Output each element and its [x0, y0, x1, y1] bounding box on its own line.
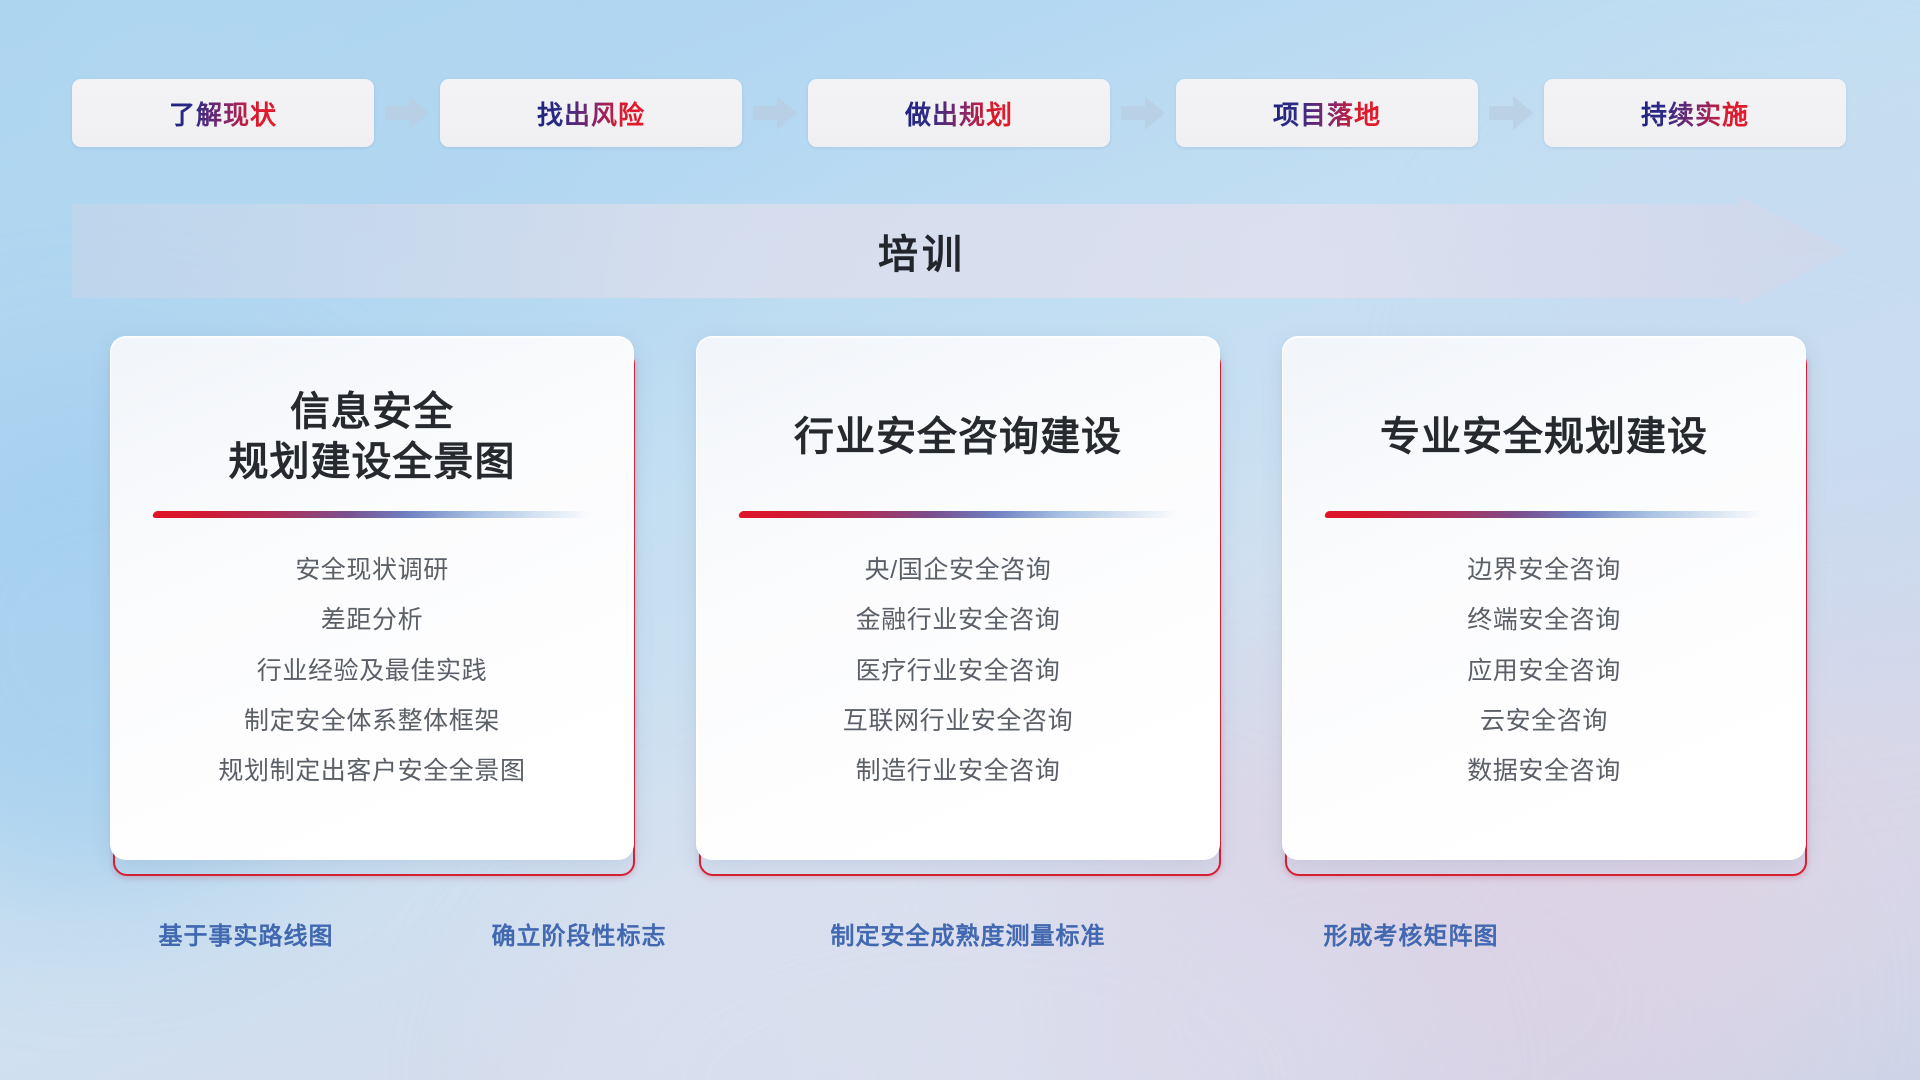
card-2[interactable]: 行业安全咨询建设 央/国企安全咨询 金融行业安全咨询 医疗行业安全咨询 互联网行…	[696, 336, 1224, 876]
list-item: 云安全咨询	[1317, 703, 1771, 739]
step-label-2: 找出风险	[537, 95, 645, 132]
card-divider-2	[738, 511, 1178, 518]
training-banner: 培训	[72, 196, 1848, 306]
card-title-2: 行业安全咨询建设	[731, 381, 1185, 493]
card-list-3: 边界安全咨询 终端安全咨询 应用安全咨询 云安全咨询 数据安全咨询	[1317, 552, 1771, 789]
footer-label-4: 形成考核矩阵图	[1324, 916, 1499, 951]
card-1[interactable]: 信息安全 规划建设全景图 安全现状调研 差距分析 行业经验及最佳实践 制定安全体…	[110, 336, 638, 876]
card-group: 信息安全 规划建设全景图 安全现状调研 差距分析 行业经验及最佳实践 制定安全体…	[110, 336, 1810, 876]
footer-label-group: 基于事实路线图 确立阶段性标志 制定安全成熟度测量标准 形成考核矩阵图	[0, 916, 1920, 960]
card-title-line-3a: 专业安全规划建设	[1380, 412, 1708, 462]
card-body-2: 行业安全咨询建设 央/国企安全咨询 金融行业安全咨询 医疗行业安全咨询 互联网行…	[696, 336, 1220, 860]
step-pill-2[interactable]: 找出风险	[440, 79, 742, 147]
step-connector-arrow-3	[1110, 96, 1176, 130]
step-connector-arrow-2	[742, 96, 808, 130]
list-item: 安全现状调研	[145, 552, 599, 588]
card-title-1: 信息安全 规划建设全景图	[145, 381, 599, 493]
card-3[interactable]: 专业安全规划建设 边界安全咨询 终端安全咨询 应用安全咨询 云安全咨询 数据安全…	[1282, 336, 1810, 876]
process-steps: 了解现状 找出风险 做出规划 项目落地	[72, 78, 1848, 148]
list-item: 数据安全咨询	[1317, 753, 1771, 789]
list-item: 医疗行业安全咨询	[731, 653, 1185, 689]
card-divider-3	[1324, 511, 1764, 518]
footer-label-2: 确立阶段性标志	[492, 916, 667, 951]
list-item: 互联网行业安全咨询	[731, 703, 1185, 739]
card-title-line-2a: 行业安全咨询建设	[794, 412, 1122, 462]
step-pill-5[interactable]: 持续实施	[1544, 79, 1846, 147]
step-pill-4[interactable]: 项目落地	[1176, 79, 1478, 147]
slide-canvas: 了解现状 找出风险 做出规划 项目落地	[0, 0, 1920, 1080]
step-label-4: 项目落地	[1273, 95, 1381, 132]
step-label-3: 做出规划	[905, 95, 1013, 132]
list-item: 规划制定出客户安全全景图	[145, 753, 599, 789]
banner-title: 培训	[72, 196, 1772, 306]
list-item: 央/国企安全咨询	[731, 552, 1185, 588]
footer-label-3: 制定安全成熟度测量标准	[831, 916, 1106, 951]
card-title-line-1a: 信息安全	[229, 387, 516, 437]
step-label-1: 了解现状	[169, 95, 277, 132]
list-item: 行业经验及最佳实践	[145, 653, 599, 689]
step-pill-3[interactable]: 做出规划	[808, 79, 1110, 147]
list-item: 终端安全咨询	[1317, 602, 1771, 638]
list-item: 应用安全咨询	[1317, 653, 1771, 689]
card-list-1: 安全现状调研 差距分析 行业经验及最佳实践 制定安全体系整体框架 规划制定出客户…	[145, 552, 599, 789]
list-item: 边界安全咨询	[1317, 552, 1771, 588]
card-body-1: 信息安全 规划建设全景图 安全现状调研 差距分析 行业经验及最佳实践 制定安全体…	[110, 336, 634, 860]
card-list-2: 央/国企安全咨询 金融行业安全咨询 医疗行业安全咨询 互联网行业安全咨询 制造行…	[731, 552, 1185, 789]
step-label-5: 持续实施	[1641, 95, 1749, 132]
list-item: 制造行业安全咨询	[731, 753, 1185, 789]
card-divider-1	[152, 511, 592, 518]
footer-label-1: 基于事实路线图	[159, 916, 334, 951]
card-title-line-1b: 规划建设全景图	[229, 437, 516, 487]
list-item: 金融行业安全咨询	[731, 602, 1185, 638]
step-connector-arrow-4	[1478, 96, 1544, 130]
list-item: 制定安全体系整体框架	[145, 703, 599, 739]
step-pill-1[interactable]: 了解现状	[72, 79, 374, 147]
step-connector-arrow-1	[374, 96, 440, 130]
card-title-3: 专业安全规划建设	[1317, 381, 1771, 493]
card-body-3: 专业安全规划建设 边界安全咨询 终端安全咨询 应用安全咨询 云安全咨询 数据安全…	[1282, 336, 1806, 860]
list-item: 差距分析	[145, 602, 599, 638]
